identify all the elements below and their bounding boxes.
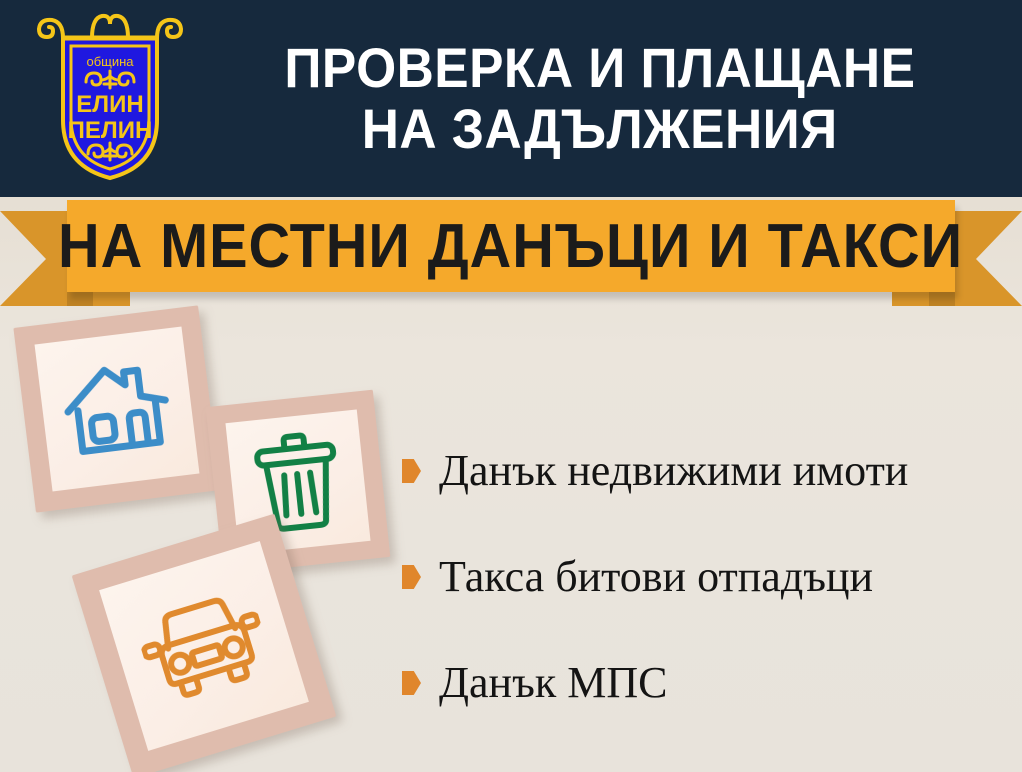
stamp-card-property bbox=[13, 305, 220, 512]
poster-canvas: НА МЕСТНИ ДАНЪЦИ И ТАКСИ ПРОВЕРКА И ПЛАЩ… bbox=[0, 0, 1022, 772]
page-title-line-2: НА ЗАДЪЛЖЕНИЯ bbox=[362, 99, 838, 159]
list-item[interactable]: Данък МПС bbox=[402, 630, 1012, 736]
shield-icon: община ЕЛИН ПЕЛИН bbox=[30, 8, 190, 188]
car-icon bbox=[132, 584, 276, 708]
list-item[interactable]: Данък недвижими имоти bbox=[402, 418, 1012, 524]
ribbon-label: НА МЕСТНИ ДАНЪЦИ И ТАКСИ bbox=[59, 211, 964, 282]
bullet-arrow-icon bbox=[402, 459, 421, 483]
list-item-label: Такса битови отпадъци bbox=[439, 553, 873, 601]
stamp-paper bbox=[35, 327, 200, 492]
ribbon-banner: НА МЕСТНИ ДАНЪЦИ И ТАКСИ bbox=[0, 197, 1022, 317]
logo-line-small: община bbox=[86, 54, 134, 69]
list-item-label: Данък недвижими имоти bbox=[439, 447, 908, 495]
bullet-arrow-icon bbox=[402, 565, 421, 589]
page-title: ПРОВЕРКА И ПЛАЩАНЕ НА ЗАДЪЛЖЕНИЯ bbox=[190, 0, 1010, 197]
tax-type-list: Данък недвижими имоти Такса битови отпад… bbox=[402, 418, 1012, 736]
list-item[interactable]: Такса битови отпадъци bbox=[402, 524, 1012, 630]
bullet-arrow-icon bbox=[402, 671, 421, 695]
coat-of-arms-logo: община ЕЛИН ПЕЛИН bbox=[30, 8, 190, 188]
list-item-label: Данък МПС bbox=[439, 659, 667, 707]
house-icon bbox=[56, 353, 177, 466]
logo-line-one: ЕЛИН bbox=[76, 91, 143, 118]
logo-line-two: ПЕЛИН bbox=[68, 117, 153, 144]
ribbon-band: НА МЕСТНИ ДАНЪЦИ И ТАКСИ bbox=[67, 200, 955, 292]
page-title-line-1: ПРОВЕРКА И ПЛАЩАНЕ bbox=[285, 38, 916, 98]
